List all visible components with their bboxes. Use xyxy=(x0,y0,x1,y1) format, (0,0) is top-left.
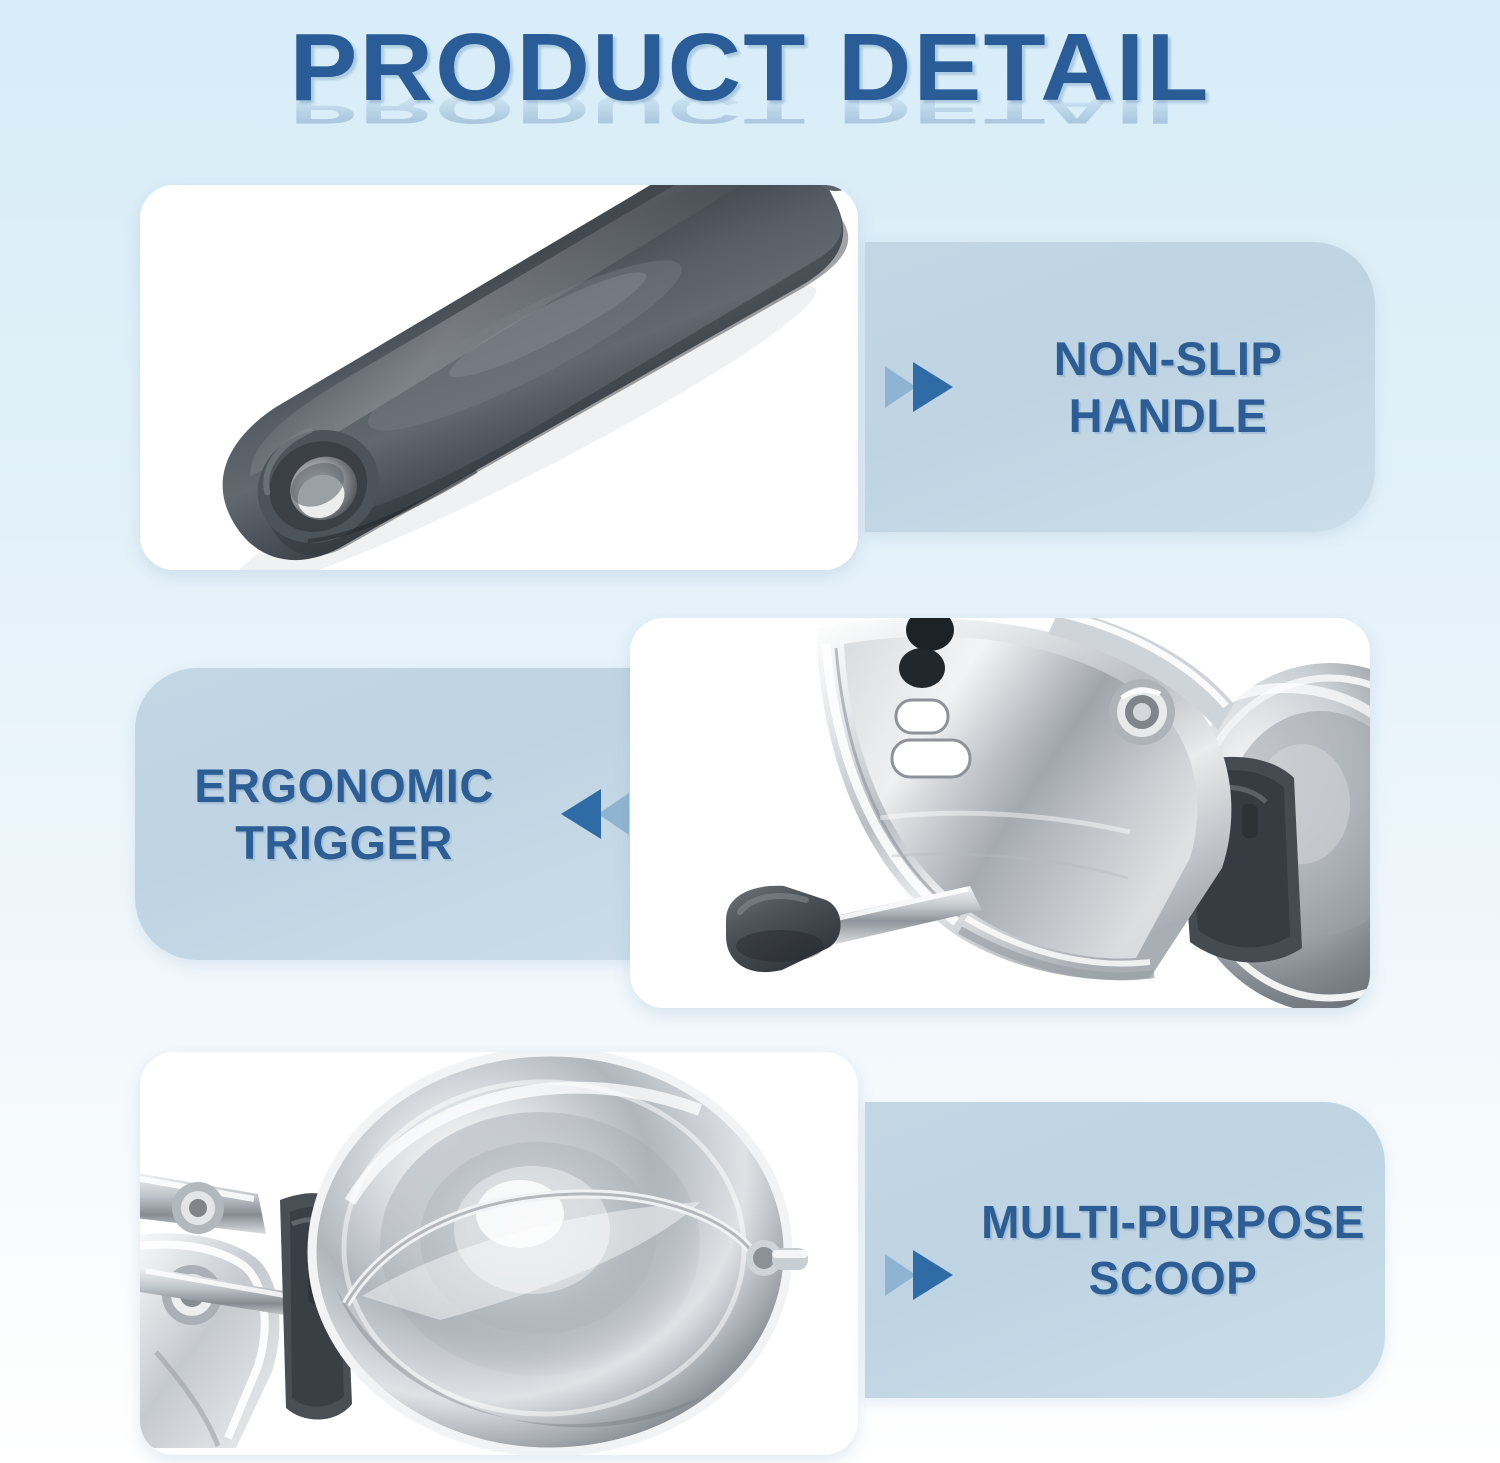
feature-label-ergonomic-trigger: ERGONOMIC TRIGGER xyxy=(135,757,553,872)
feature-card-non-slip-handle[interactable]: NON-SLIP HANDLE xyxy=(865,242,1375,532)
page-title: PRODUCT DETAIL xyxy=(0,18,1500,119)
double-arrow-left-icon xyxy=(553,783,631,845)
double-arrow-right-icon xyxy=(883,356,961,418)
photo-multi-purpose-scoop xyxy=(140,1052,858,1455)
feature-card-multi-purpose-scoop[interactable]: MULTI-PURPOSE SCOOP xyxy=(865,1102,1385,1398)
photo-non-slip-handle xyxy=(140,185,858,570)
double-arrow-left-glyph xyxy=(553,783,631,845)
photo-ergonomic-trigger xyxy=(630,618,1370,1008)
feature-card-ergonomic-trigger[interactable]: ERGONOMIC TRIGGER xyxy=(135,668,655,960)
handle-illustration xyxy=(140,185,858,570)
double-arrow-right-glyph xyxy=(883,356,961,418)
feature-label-non-slip-handle: NON-SLIP HANDLE xyxy=(961,330,1375,445)
feature-label-multi-purpose-scoop: MULTI-PURPOSE SCOOP xyxy=(961,1194,1385,1306)
scoop-illustration xyxy=(140,1052,858,1455)
page-title-block: PRODUCT DETAIL PRODUCT DETAIL xyxy=(0,18,1500,158)
product-detail-infographic: PRODUCT DETAIL PRODUCT DETAIL xyxy=(0,0,1500,1463)
trigger-illustration xyxy=(630,618,1370,1008)
double-arrow-right-icon xyxy=(883,1244,961,1306)
double-arrow-right-glyph xyxy=(883,1244,961,1306)
